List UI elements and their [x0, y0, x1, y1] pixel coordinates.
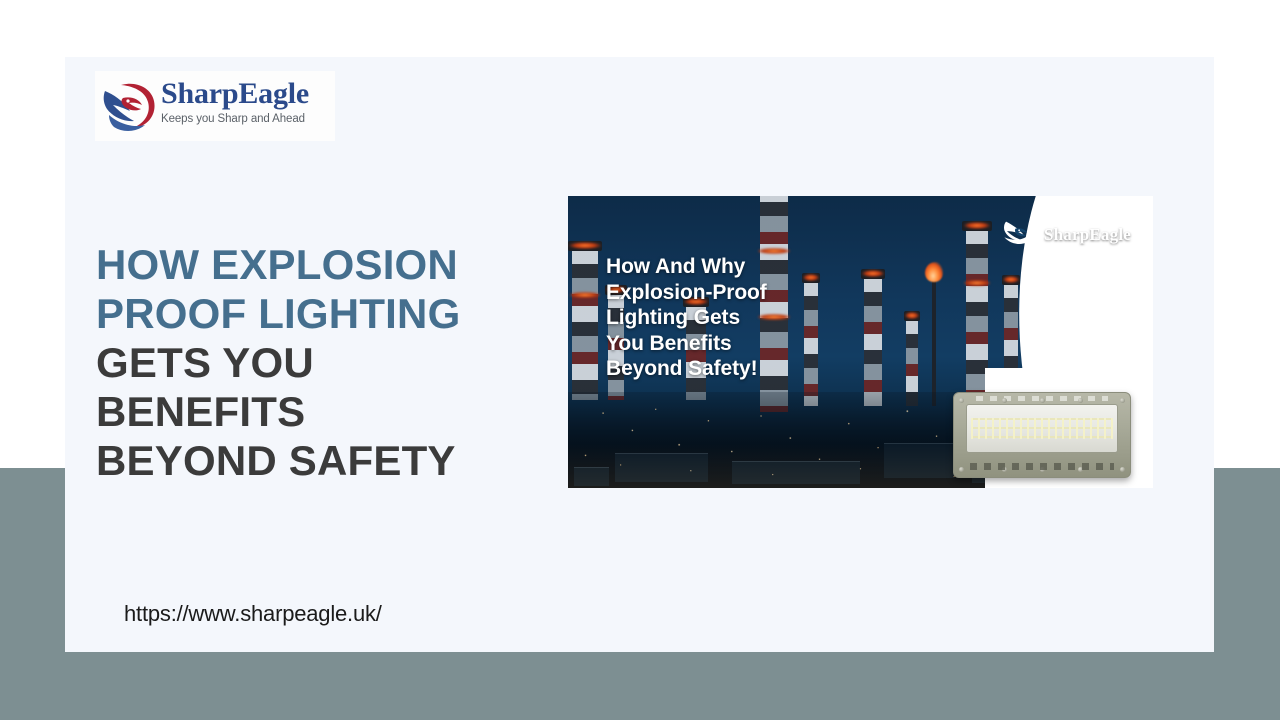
hero-overlay-line-1: How And Why — [606, 254, 856, 280]
hero-brand-name: SharpEagle — [1044, 225, 1131, 245]
title-line-3: GETS YOU — [96, 338, 566, 387]
led-flood-light-product — [953, 392, 1131, 478]
page-title: HOW EXPLOSION PROOF LIGHTING GETS YOU BE… — [96, 240, 566, 485]
title-line-1: HOW EXPLOSION — [96, 240, 566, 289]
eagle-logo-icon — [1000, 214, 1040, 255]
luminaire-heat-sink-vents — [970, 463, 1114, 470]
smokestack — [864, 276, 882, 406]
led-array — [971, 418, 1113, 439]
hero-overlay-line-3: Lighting Gets — [606, 305, 856, 331]
title-line-2: PROOF LIGHTING — [96, 289, 566, 338]
hero-image: How And Why Explosion-Proof Lighting Get… — [568, 196, 1153, 488]
sharpeagle-logo: SharpEagle Keeps you Sharp and Ahead — [95, 71, 335, 141]
eagle-logo-icon — [97, 75, 165, 137]
hero-overlay-line-2: Explosion-Proof — [606, 280, 856, 306]
logo-name: SharpEagle — [161, 77, 333, 111]
hero-brand-logo: SharpEagle — [1000, 214, 1131, 255]
logo-tagline: Keeps you Sharp and Ahead — [161, 112, 333, 126]
logo-wordmark: SharpEagle Keeps you Sharp and Ahead — [161, 77, 333, 126]
hero-overlay-line-5: Beyond Safety! — [606, 356, 856, 382]
title-line-4: BENEFITS — [96, 387, 566, 436]
smokestack — [572, 248, 598, 400]
hero-overlay-line-4: You Benefits — [606, 331, 856, 357]
presentation-slide: SharpEagle Keeps you Sharp and Ahead HOW… — [65, 57, 1214, 652]
flare-stack — [932, 274, 936, 406]
title-line-5: BEYOND SAFETY — [96, 436, 566, 485]
hero-overlay-title: How And Why Explosion-Proof Lighting Get… — [606, 254, 856, 382]
luminaire-lens — [966, 404, 1118, 453]
slide-canvas: SharpEagle Keeps you Sharp and Ahead HOW… — [0, 0, 1280, 720]
website-url[interactable]: https://www.sharpeagle.uk/ — [124, 601, 382, 627]
